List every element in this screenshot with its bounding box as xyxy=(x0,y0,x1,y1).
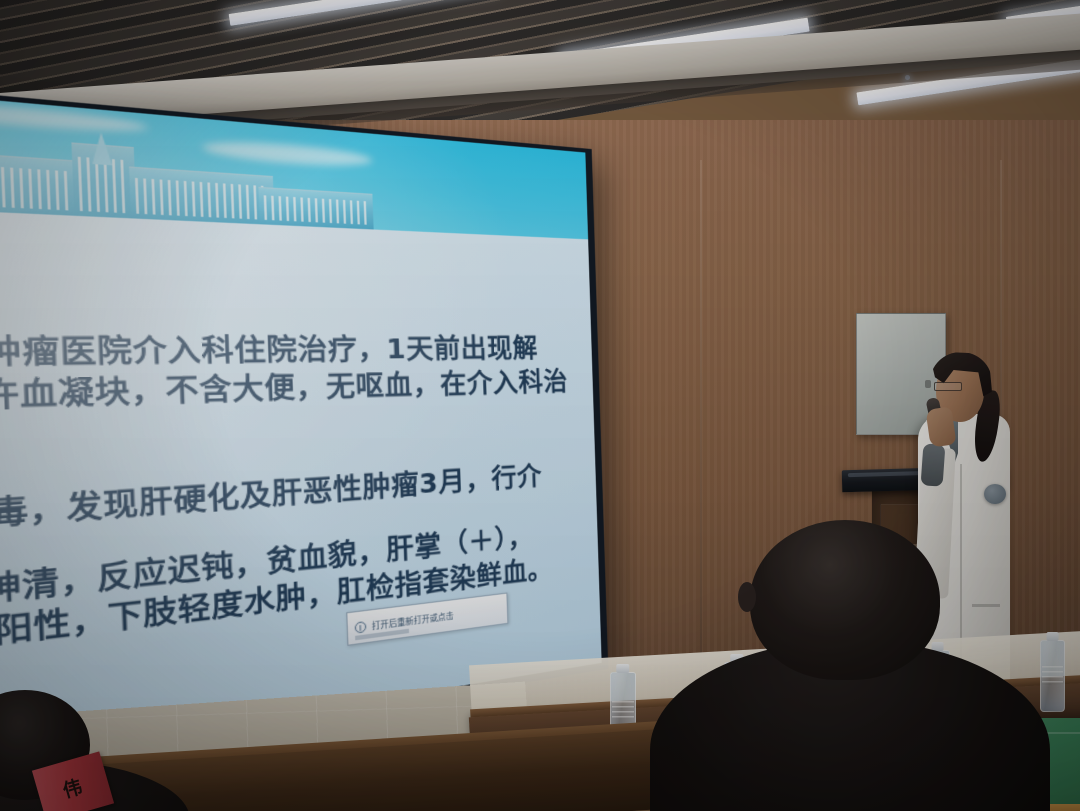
audience-ear xyxy=(738,582,756,612)
shoulder-badge xyxy=(984,484,1006,504)
building-wing xyxy=(129,166,275,225)
glasses-icon xyxy=(934,382,962,391)
building-windows xyxy=(264,195,369,225)
bottle-ribs xyxy=(1042,666,1063,684)
toast-message: 打开后重新打开或点击 xyxy=(372,609,454,632)
building-spire xyxy=(91,131,112,165)
building-wing xyxy=(258,187,373,230)
water-bottle[interactable] xyxy=(1040,640,1065,712)
building-windows xyxy=(135,178,270,220)
bottle-ribs xyxy=(612,701,634,721)
building-windows xyxy=(78,157,131,214)
info-icon xyxy=(355,621,367,634)
coat-lapel-right xyxy=(958,420,976,470)
speaker-inner-sleeve xyxy=(921,443,946,486)
audience-person-foreground xyxy=(690,520,990,811)
audience-head xyxy=(750,520,940,680)
presentation-photo-scene: 硬化、肝恶性肿瘤在我院肿瘤医院介入科住院治疗，1天前出现解 次，总量约400ml… xyxy=(0,0,1080,811)
speaker-hand xyxy=(925,406,956,447)
